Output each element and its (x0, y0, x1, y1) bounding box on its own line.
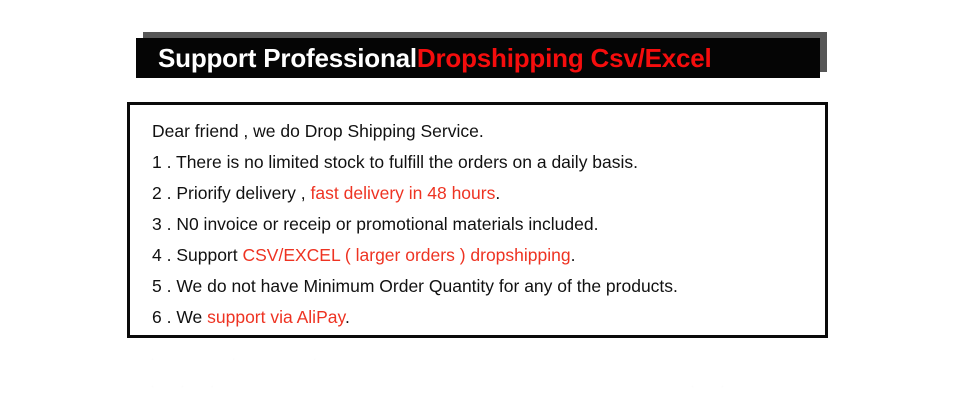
info-segment: . (571, 245, 576, 265)
info-line-item-4: 4 . Support CSV/EXCEL ( larger orders ) … (152, 240, 817, 271)
info-segment: 2 . Priorify delivery , (152, 183, 311, 203)
info-segment: 1 . There is no limited stock to fulfill… (152, 152, 638, 172)
info-line-item-6: 6 . We support via AliPay. (152, 302, 817, 333)
info-segment: Dear friend , we do Drop Shipping Servic… (152, 121, 484, 141)
header-banner: Support Professional Dropshipping Csv/Ex… (136, 32, 828, 78)
dropshipping-info-box: Dear friend , we do Drop Shipping Servic… (127, 102, 828, 338)
info-line-intro: Dear friend , we do Drop Shipping Servic… (152, 116, 817, 147)
ghost-text-row: · · · (150, 378, 225, 396)
info-segment: 5 . We do not have Minimum Order Quantit… (152, 276, 678, 296)
info-segment: 4 . Support (152, 245, 242, 265)
info-segment: fast delivery in 48 hours (311, 183, 496, 203)
info-segment: CSV/EXCEL ( larger orders ) dropshipping (242, 245, 570, 265)
info-segment: . (345, 307, 350, 327)
info-segment: support via AliPay (207, 307, 345, 327)
info-line-item-3: 3 . N0 invoice or receip or promotional … (152, 209, 817, 240)
ghost-text-row: · · (690, 378, 735, 396)
info-segment: 3 . N0 invoice or receip or promotional … (152, 214, 598, 234)
info-line-list: Dear friend , we do Drop Shipping Servic… (152, 116, 817, 333)
bottom-cutoff-artifacts: · · · · · · · · (0, 344, 960, 400)
info-line-item-1: 1 . There is no limited stock to fulfill… (152, 147, 817, 178)
banner-title-primary: Support Professional (158, 45, 417, 71)
info-segment: . (495, 183, 500, 203)
ghost-text-row: · · · (150, 350, 353, 367)
info-segment: 6 . We (152, 307, 207, 327)
banner-title-highlight: Dropshipping Csv/Excel (417, 45, 712, 71)
info-line-item-2: 2 . Priorify delivery , fast delivery in… (152, 178, 817, 209)
banner-bar: Support Professional Dropshipping Csv/Ex… (136, 38, 820, 78)
info-line-item-5: 5 . We do not have Minimum Order Quantit… (152, 271, 817, 302)
